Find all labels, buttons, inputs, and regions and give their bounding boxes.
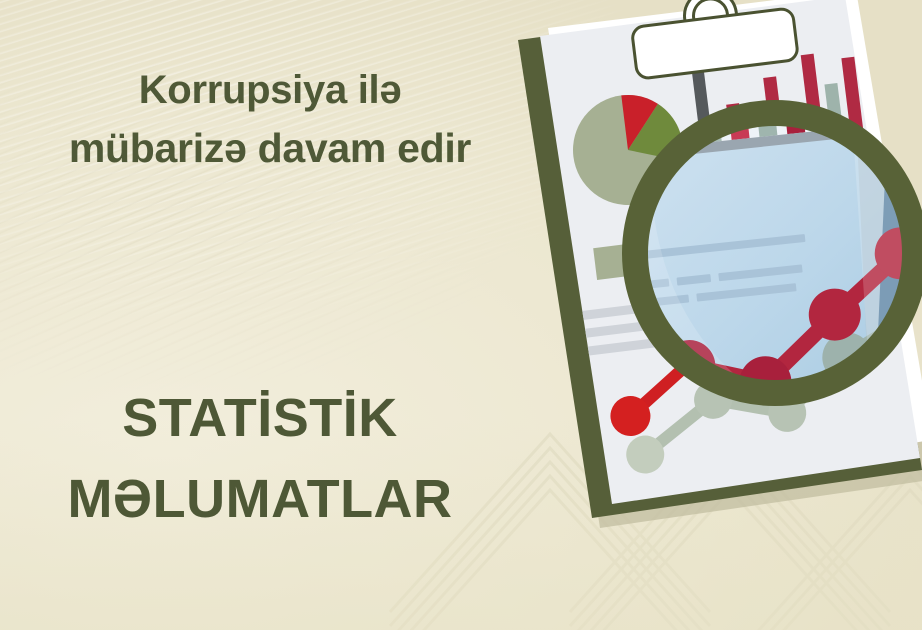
headline: Korrupsiya ilə mübarizə davam edir [0, 62, 540, 177]
page-title: STATİSTİK MƏLUMATLAR [0, 380, 520, 537]
headline-line-2: mübarizə davam edir [0, 119, 540, 177]
page-title-line-2: MƏLUMATLAR [0, 461, 520, 538]
page-title-line-1: STATİSTİK [0, 380, 520, 457]
headline-line-1: Korrupsiya ilə [0, 62, 540, 119]
poster-canvas: Korrupsiya ilə mübarizə davam edir STATİ… [0, 0, 922, 630]
illustration-clipboard-charts [500, 0, 922, 548]
